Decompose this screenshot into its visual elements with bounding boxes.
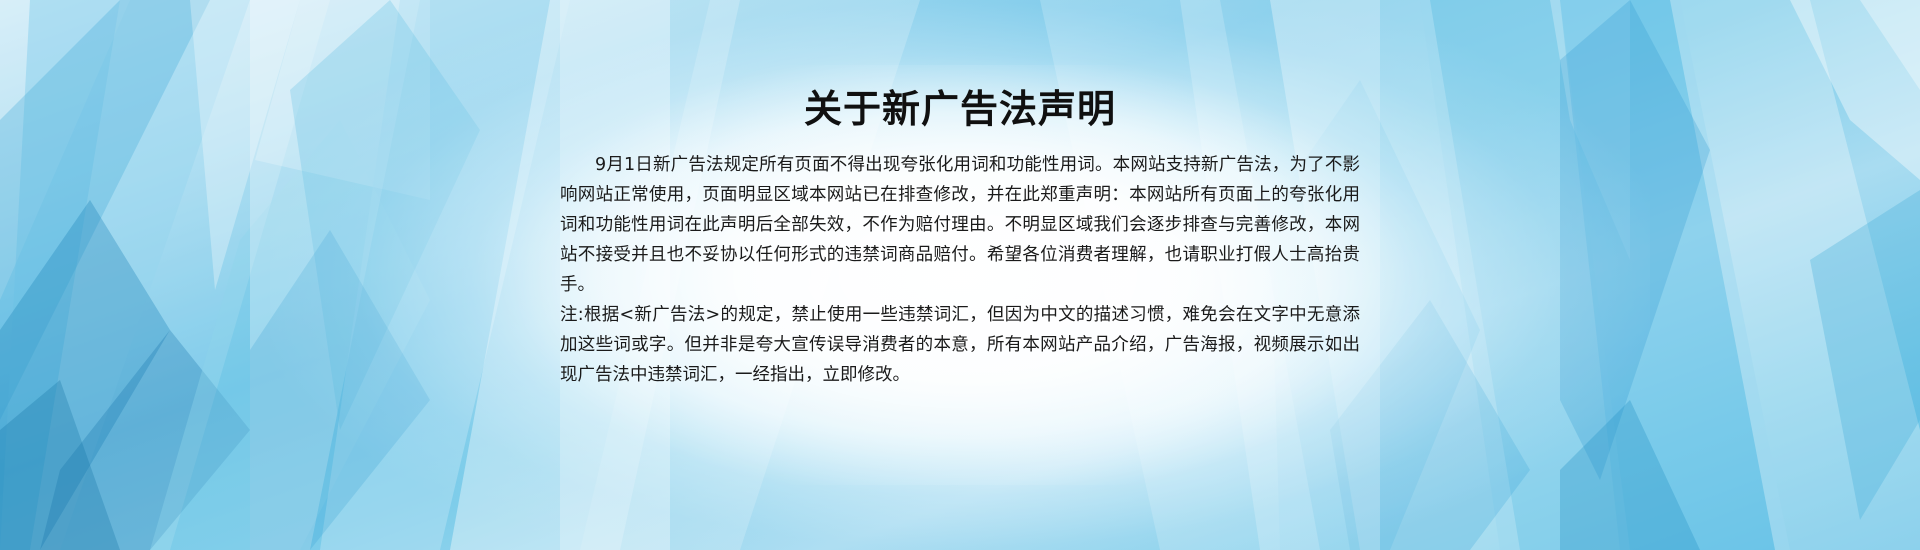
banner-content: 关于新广告法声明 9月1日新广告法规定所有页面不得出现夸张化用词和功能性用词。本…: [0, 0, 1920, 550]
statement-paragraph-main: 9月1日新广告法规定所有页面不得出现夸张化用词和功能性用词。本网站支持新广告法，…: [560, 150, 1360, 300]
statement-paragraph-note: 注:根据<新广告法>的规定，禁止使用一些违禁词汇，但因为中文的描述习惯，难免会在…: [560, 300, 1360, 390]
page-title: 关于新广告法声明: [804, 88, 1116, 132]
banner-canvas: 关于新广告法声明 9月1日新广告法规定所有页面不得出现夸张化用词和功能性用词。本…: [0, 0, 1920, 550]
statement-body: 9月1日新广告法规定所有页面不得出现夸张化用词和功能性用词。本网站支持新广告法，…: [560, 150, 1360, 390]
